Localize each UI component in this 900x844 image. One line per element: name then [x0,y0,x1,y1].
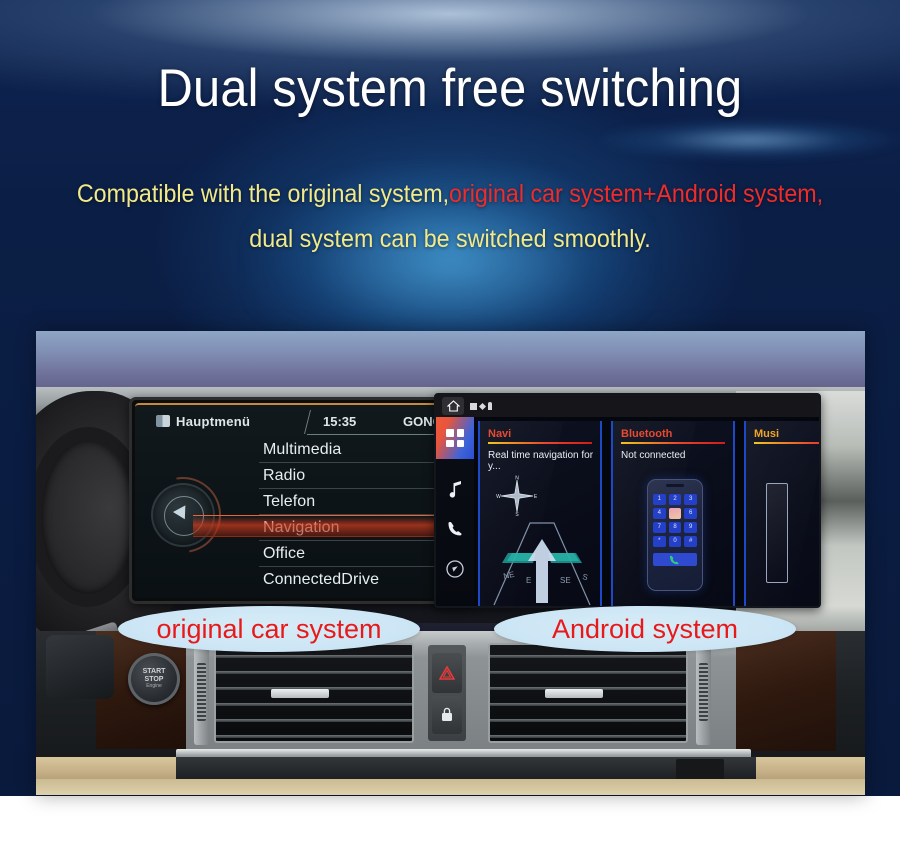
console-black-insert [676,759,724,781]
page-subtitle: Compatible with the original system,orig… [32,172,869,262]
dial-key: 4 [653,508,666,519]
home-icon[interactable] [442,397,464,415]
pin-icon [488,402,492,410]
vent-tab[interactable] [545,689,603,698]
road-perspective-graphic: NE E SE S [486,517,598,607]
dial-key: 9 [684,522,697,533]
left-air-vent [214,643,414,743]
status-indicators [470,402,492,410]
caption-android-system: Android system [494,606,796,652]
vent-wheel-right[interactable] [696,641,711,745]
idrive-glass: Hauptmenü 15:35 GONG96.3 TP Multimedia R… [135,403,469,598]
dial-key: 8 [669,522,682,533]
call-button [653,553,697,566]
start-label: START [143,668,166,676]
lower-beige-strip [36,779,865,795]
subtitle-part1: Compatible with the original system, [77,180,449,208]
svg-text:W: W [496,494,501,500]
compass-rose-icon: N S E W [496,475,538,517]
caption-original-car-system: original car system [118,606,420,652]
dialpad: 1 2 3 4 6 7 8 9 * 0 # [653,494,697,547]
card-bluetooth[interactable]: Bluetooth Not connected 1 2 3 4 6 7 8 9 [611,421,735,607]
background-glow-streak [600,120,900,160]
phone-notch [666,484,684,487]
lock-icon [440,707,454,722]
square-icon [470,403,477,410]
card-music[interactable]: Musi [744,421,821,607]
svg-text:E: E [526,576,531,585]
android-sidebar [436,417,474,608]
subtitle-comma: , [817,180,823,208]
idrive-status-bar: Hauptmenü 15:35 GONG96.3 TP [135,408,469,434]
svg-text:N: N [515,476,519,482]
svg-text:NE: NE [503,570,516,581]
central-lock-button[interactable] [432,696,462,734]
dial-key: # [684,536,697,547]
start-stop-button[interactable]: START STOP Engine [128,653,180,705]
dial-key: 6 [684,508,697,519]
svg-text:S: S [582,572,589,582]
contact-thumbnail [669,508,682,519]
right-air-vent [488,643,688,743]
engine-label: Engine [146,684,162,690]
android-status-bar [436,395,819,417]
android-card-row: Navi Real time navigation for y... N S E… [478,421,819,606]
vent-wheel-left[interactable] [194,641,209,745]
card-navi[interactable]: Navi Real time navigation for y... N S E… [478,421,602,607]
original-car-system-screen[interactable]: Hauptmenü 15:35 GONG96.3 TP Multimedia R… [129,397,475,604]
navi-artwork: N S E W NE E SE S [480,473,602,607]
center-button-stack [428,645,466,741]
subtitle-highlight: original car system+Android system [449,180,817,208]
apps-grid-icon[interactable] [436,417,474,459]
list-icon [156,415,170,427]
page-title: Dual system free switching [36,58,864,120]
subtitle-line2: dual system can be switched smoothly. [32,217,869,262]
vent-tab[interactable] [271,689,329,698]
hazard-triangle-icon [439,666,455,680]
music-panel-graphic [766,483,788,583]
android-system-screen[interactable]: Navi Real time navigation for y... N S E… [434,393,821,608]
call-icon [668,554,683,566]
dial-key: 1 [653,494,666,505]
diamond-icon [479,402,486,409]
car-dashboard-photo: Hauptmenü 15:35 GONG96.3 TP Multimedia R… [36,331,865,795]
dial-key: 7 [653,522,666,533]
lower-dashboard: START STOP Engine [36,631,865,795]
phone-icon[interactable] [436,509,474,549]
status-divider [304,410,311,434]
svg-text:SE: SE [560,576,571,585]
door-handle [46,635,114,699]
wood-trim-right [726,631,836,751]
music-note-icon[interactable] [436,469,474,509]
svg-text:E: E [534,494,538,500]
hazard-button[interactable] [432,653,462,693]
dial-key: * [653,536,666,547]
idrive-menu-title: Hauptmenü [176,414,250,429]
navigation-compass-icon[interactable] [436,549,474,589]
idrive-knob-arc [130,462,236,568]
dial-key: 0 [669,536,682,547]
dial-key: 2 [669,494,682,505]
idrive-clock: 15:35 [323,414,356,429]
phone-dialpad-graphic: 1 2 3 4 6 7 8 9 * 0 # [647,479,703,591]
dial-key: 3 [684,494,697,505]
